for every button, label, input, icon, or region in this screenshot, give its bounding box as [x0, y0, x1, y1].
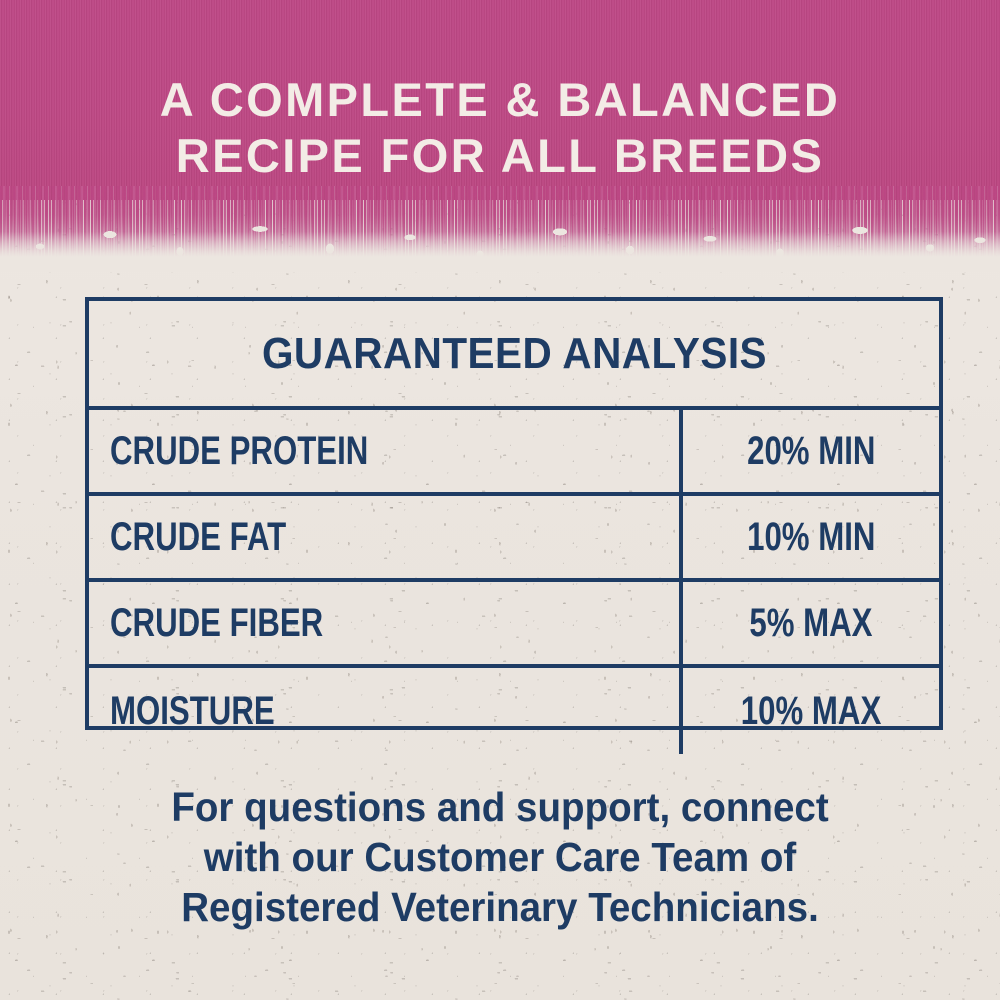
table-row: MOISTURE 10% MAX — [89, 668, 939, 754]
headline: A COMPLETE & BALANCED RECIPE FOR ALL BRE… — [0, 72, 1000, 184]
table-row: CRUDE FAT 10% MIN — [89, 496, 939, 582]
nutrient-value-cell: 20% MIN — [683, 410, 939, 492]
packaging-panel: A COMPLETE & BALANCED RECIPE FOR ALL BRE… — [0, 0, 1000, 1000]
table-title: GUARANTEED ANALYSIS — [261, 329, 766, 379]
banner-torn-edge-flecks — [0, 208, 1000, 272]
support-message: For questions and support, connect with … — [0, 782, 1000, 932]
support-line-1: For questions and support, connect — [30, 782, 970, 832]
nutrient-label-cell: CRUDE PROTEIN — [89, 410, 683, 492]
headline-line-2: RECIPE FOR ALL BREEDS — [0, 128, 1000, 184]
nutrient-value: 20% MIN — [747, 429, 875, 474]
support-line-3: Registered Veterinary Technicians. — [30, 882, 970, 932]
nutrient-label-cell: CRUDE FIBER — [89, 582, 683, 664]
nutrient-value-cell: 5% MAX — [683, 582, 939, 664]
headline-line-1: A COMPLETE & BALANCED — [0, 72, 1000, 128]
nutrient-label: CRUDE FAT — [110, 515, 286, 560]
nutrient-value-cell: 10% MIN — [683, 496, 939, 578]
nutrient-value-cell: 10% MAX — [683, 668, 939, 754]
table-header-row: GUARANTEED ANALYSIS — [89, 301, 939, 410]
nutrient-label-cell: MOISTURE — [89, 668, 683, 754]
table-row: CRUDE PROTEIN 20% MIN — [89, 410, 939, 496]
table-row: CRUDE FIBER 5% MAX — [89, 582, 939, 668]
nutrient-label-cell: CRUDE FAT — [89, 496, 683, 578]
nutrient-label: CRUDE FIBER — [110, 601, 323, 646]
nutrient-value: 10% MIN — [747, 515, 875, 560]
nutrient-value: 5% MAX — [749, 601, 872, 646]
support-line-2: with our Customer Care Team of — [30, 832, 970, 882]
nutrient-label: MOISTURE — [110, 689, 275, 734]
guaranteed-analysis-table: GUARANTEED ANALYSIS CRUDE PROTEIN 20% MI… — [85, 297, 943, 730]
nutrient-value: 10% MAX — [741, 689, 881, 734]
nutrient-label: CRUDE PROTEIN — [110, 429, 368, 474]
